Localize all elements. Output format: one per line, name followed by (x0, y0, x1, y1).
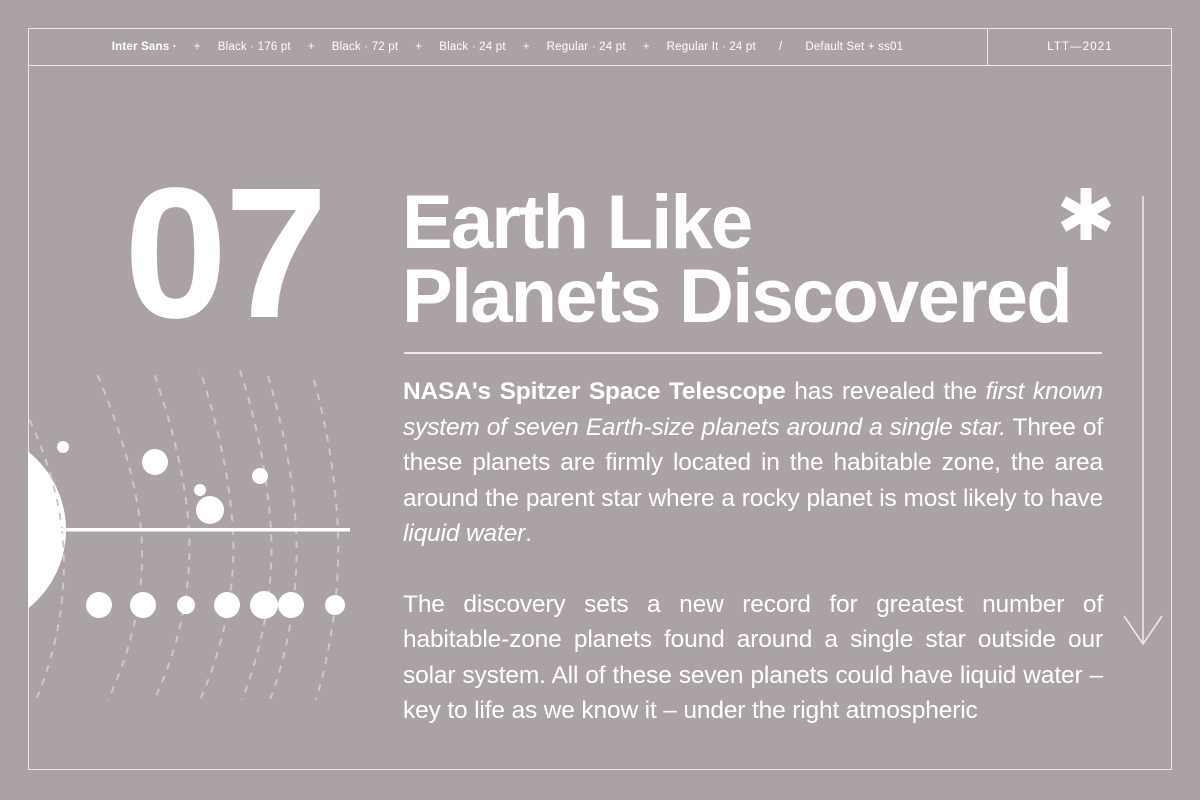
planet-marker (252, 468, 268, 484)
planet-group-upper (57, 441, 268, 524)
asterisk-icon (1058, 186, 1114, 242)
spec-typeface: Inter Sans · (99, 41, 190, 53)
article-body: NASA's Spitzer Space Telescope has revea… (403, 374, 1103, 729)
headline-divider (404, 352, 1102, 354)
spec-separator-plus: + (190, 41, 205, 53)
paragraph-2: The discovery sets a new record for grea… (403, 587, 1103, 729)
planet-marker (86, 592, 112, 618)
scroll-down-arrow-icon[interactable] (1118, 196, 1168, 652)
orbit-arc (150, 370, 189, 700)
type-spec-header: Inter Sans · + Black · 176 pt + Black · … (28, 28, 1172, 66)
orbit-arc (92, 370, 142, 700)
lead-bold: NASA's Spitzer Space Telescope (403, 378, 786, 405)
p1-plain-1: has revealed the (786, 378, 986, 405)
spec-separator-plus: + (639, 41, 654, 53)
headline-line-2: Planets Discovered (402, 260, 1106, 334)
spec-separator-slash: / (769, 41, 792, 53)
section-number: 07 (124, 178, 325, 331)
planet-marker (250, 591, 278, 619)
spec-separator-plus: + (304, 41, 319, 53)
spec-black-24: Black · 24 pt (426, 41, 519, 53)
planet-marker (177, 596, 195, 614)
planet-marker (57, 441, 69, 453)
planet-group-lower (86, 591, 345, 619)
horizon-line (28, 528, 350, 532)
orbit-arc (314, 380, 338, 700)
orbit-arc (240, 370, 271, 700)
planet-marker (194, 484, 206, 496)
poster-canvas: Inter Sans · + Black · 176 pt + Black · … (0, 0, 1200, 800)
spec-regular-italic-24: Regular It · 24 pt (654, 41, 769, 53)
header-code-cell: LTT—2021 (988, 28, 1172, 65)
planet-marker (325, 595, 345, 615)
headline-line-1: Earth Like (402, 180, 751, 265)
spec-stylistic-set: Default Set + ss01 (792, 41, 916, 53)
planet-marker (130, 592, 156, 618)
planet-marker (214, 592, 240, 618)
spec-black-176: Black · 176 pt (205, 41, 304, 53)
spec-black-72: Black · 72 pt (319, 41, 412, 53)
project-code: LTT—2021 (1047, 41, 1112, 53)
planet-marker (278, 592, 304, 618)
paragraph-1: NASA's Spitzer Space Telescope has revea… (403, 374, 1103, 552)
orbit-diagram (28, 370, 373, 700)
spec-separator-plus: + (411, 41, 426, 53)
p1-italic-2: liquid water (403, 520, 525, 547)
type-spec-list: Inter Sans · + Black · 176 pt + Black · … (28, 28, 988, 65)
page-title: Earth Like Planets Discovered (402, 186, 1106, 335)
p1-plain-3: . (525, 520, 532, 547)
planet-marker (196, 496, 224, 524)
planet-marker (142, 449, 168, 475)
spec-separator-plus: + (519, 41, 534, 53)
spec-regular-24: Regular · 24 pt (534, 41, 639, 53)
orbit-arc (198, 370, 233, 700)
